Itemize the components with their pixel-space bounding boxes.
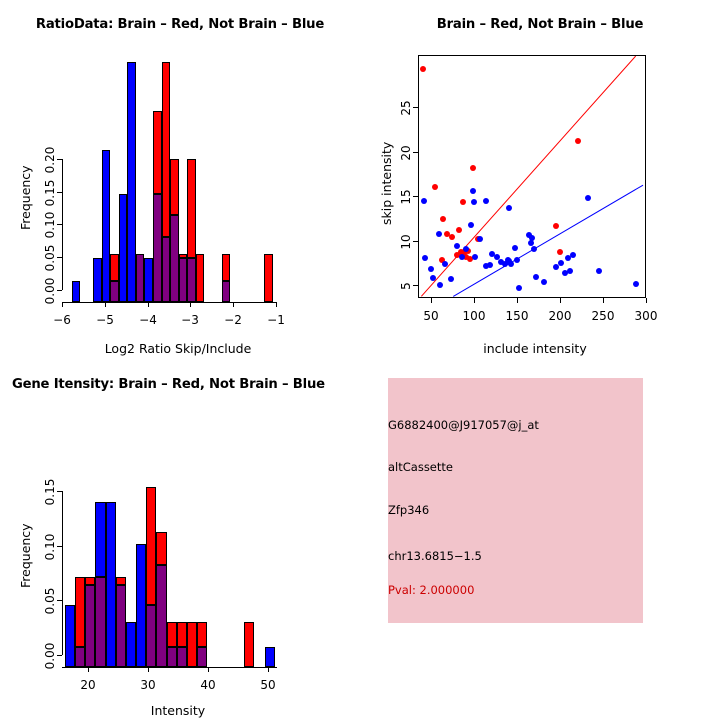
scatter-point — [448, 276, 454, 282]
sc-y-tick-2 — [413, 196, 418, 197]
x-tick-label-1: −5 — [96, 313, 114, 327]
axis-title-y-scatter: skip intensity — [379, 142, 394, 225]
sc-y-label-3: 20 — [399, 133, 413, 173]
axis-title-x-ratio: Log2 Ratio Skip/Include — [105, 341, 252, 356]
histogram-bar — [170, 215, 179, 302]
g-x-tick-2 — [208, 667, 209, 672]
histogram-bar — [116, 585, 126, 667]
histogram-bar — [167, 647, 177, 667]
histogram-bar — [146, 487, 156, 605]
histogram-bar — [197, 647, 207, 667]
scatter-point — [430, 275, 436, 281]
sc-x-tick-4 — [603, 298, 604, 303]
scatter-point — [570, 252, 576, 258]
histogram-bar — [187, 622, 197, 667]
scatter-point — [442, 261, 448, 267]
sc-x-label-2: 150 — [506, 309, 529, 323]
scatter-point — [440, 216, 446, 222]
histogram-bar — [197, 622, 207, 648]
histogram-bar — [144, 258, 153, 302]
histogram-bar — [85, 577, 95, 585]
scatter-point — [533, 274, 539, 280]
scatter-point — [585, 195, 591, 201]
scatter-point — [456, 227, 462, 233]
histogram-bar — [156, 565, 166, 667]
y-tick-0 — [57, 290, 62, 291]
scatter-point — [541, 279, 547, 285]
info-event-type: altCassette — [388, 460, 453, 474]
scatter-point — [436, 231, 442, 237]
scatter-point — [449, 234, 455, 240]
x-tick-1 — [105, 302, 106, 307]
panel-gene-info: G6882400@J917057@j_at altCassette Zfp346… — [360, 360, 720, 720]
histogram-bar — [136, 544, 146, 667]
histogram-bar — [177, 622, 187, 648]
scatter-point — [460, 199, 466, 205]
sc-x-label-4: 250 — [592, 309, 615, 323]
histogram-bar — [85, 585, 95, 667]
sc-y-label-0: 5 — [399, 266, 413, 306]
g-y-label-0: 0.00 — [43, 636, 57, 676]
scatter-point — [472, 254, 478, 260]
scatter-point — [557, 249, 563, 255]
x-tick-5 — [276, 302, 277, 307]
histogram-bar — [196, 254, 205, 302]
x-tick-3 — [190, 302, 191, 307]
histogram-bar — [170, 159, 179, 215]
histogram-bar — [75, 577, 85, 647]
scatter-point — [512, 245, 518, 251]
x-tick-4 — [233, 302, 234, 307]
scatter-point — [596, 268, 602, 274]
histogram-bar — [136, 254, 145, 302]
histogram-bar — [102, 150, 111, 302]
histogram-bar — [126, 622, 136, 667]
histogram-bar — [116, 577, 126, 585]
scatter-point — [575, 138, 581, 144]
sc-x-tick-2 — [517, 298, 518, 303]
info-gene-symbol: Zfp346 — [388, 503, 429, 517]
scatter-point — [420, 66, 426, 72]
scatter-plot-area — [418, 55, 646, 298]
histogram-bar — [179, 258, 188, 302]
histogram-bar — [65, 605, 75, 667]
sc-y-label-1: 10 — [399, 222, 413, 262]
histogram-bar — [187, 258, 196, 302]
histogram-bar — [162, 62, 171, 237]
info-location: chr13.6815−1.5 — [388, 549, 482, 563]
regression-line — [421, 56, 636, 297]
scatter-point — [531, 246, 537, 252]
histogram-bar — [156, 532, 166, 565]
panel-title-ratio: RatioData: Brain – Red, Not Brain – Blue — [0, 17, 360, 32]
histogram-bar — [95, 502, 105, 577]
g-y-label-2: 0.10 — [43, 527, 57, 567]
histogram-bar — [146, 605, 156, 667]
sc-x-tick-1 — [474, 298, 475, 303]
scatter-point — [553, 223, 559, 229]
scatter-point — [470, 165, 476, 171]
g-y-tick-3 — [57, 491, 62, 492]
y-tick-4 — [57, 159, 62, 160]
y-axis-line-gene — [62, 491, 63, 655]
axis-title-y-ratio: Frequency — [18, 165, 33, 230]
scatter-point — [454, 243, 460, 249]
histogram-bar — [244, 622, 254, 667]
scatter-point — [463, 246, 469, 252]
histogram-bar — [264, 254, 273, 302]
g-x-label-3: 50 — [260, 678, 275, 692]
scatter-point — [633, 281, 639, 287]
x-tick-label-2: −4 — [139, 313, 157, 327]
g-x-tick-0 — [88, 667, 89, 672]
x-tick-label-4: −2 — [224, 313, 242, 327]
histogram-bar — [110, 281, 119, 302]
g-x-label-1: 30 — [140, 678, 155, 692]
scatter-point — [459, 254, 465, 260]
scatter-point — [477, 236, 483, 242]
x-axis-line-ratio — [62, 302, 276, 303]
sc-x-label-3: 200 — [549, 309, 572, 323]
scatter-point — [421, 198, 427, 204]
histogram-bar — [265, 647, 275, 667]
scatter-point — [468, 222, 474, 228]
sc-y-label-4: 25 — [399, 88, 413, 128]
panel-title-gene: Gene Itensity: Brain – Red, Not Brain – … — [12, 377, 372, 392]
sc-y-label-2: 15 — [399, 177, 413, 217]
histogram-bar — [167, 622, 177, 648]
y-tick-3 — [57, 192, 62, 193]
axis-title-x-gene: Intensity — [151, 703, 205, 718]
scatter-point — [432, 184, 438, 190]
panel-ratio-histogram: RatioData: Brain – Red, Not Brain – Blue… — [0, 0, 360, 360]
scatter-point — [516, 285, 522, 291]
histogram-bar — [153, 111, 162, 194]
axis-title-y-gene: Frequency — [18, 523, 33, 588]
sc-x-tick-3 — [560, 298, 561, 303]
figure-canvas: RatioData: Brain – Red, Not Brain – Blue… — [0, 0, 720, 720]
x-axis-line-gene — [62, 667, 277, 668]
g-y-label-3: 0.15 — [43, 472, 57, 512]
panel-gene-intensity-histogram: Gene Itensity: Brain – Red, Not Brain – … — [0, 360, 360, 720]
x-tick-0 — [62, 302, 63, 307]
g-y-tick-0 — [57, 655, 62, 656]
x-tick-label-5: −1 — [267, 313, 285, 327]
sc-x-label-5: 300 — [635, 309, 658, 323]
y-tick-1 — [57, 257, 62, 258]
scatter-point — [529, 235, 535, 241]
histogram-bar — [95, 577, 105, 667]
histogram-bar — [93, 258, 102, 302]
info-pval: Pval: 2.000000 — [388, 583, 474, 597]
g-x-label-0: 20 — [80, 678, 95, 692]
g-x-tick-1 — [148, 667, 149, 672]
panel-intensity-scatter: Brain – Red, Not Brain – Blue skip inten… — [360, 0, 720, 360]
scatter-point — [567, 268, 573, 274]
scatter-point — [422, 255, 428, 261]
histogram-bar — [153, 194, 162, 302]
histogram-bar — [127, 62, 136, 302]
scatter-point — [428, 266, 434, 272]
sc-y-tick-4 — [413, 107, 418, 108]
sc-y-tick-1 — [413, 241, 418, 242]
panel-title-scatter: Brain – Red, Not Brain – Blue — [360, 17, 720, 32]
scatter-point — [470, 188, 476, 194]
histogram-bar — [110, 254, 119, 281]
info-probe-id: G6882400@J917057@j_at — [388, 418, 539, 432]
histogram-bar — [72, 281, 81, 302]
scatter-point — [471, 199, 477, 205]
histogram-bar — [222, 281, 231, 302]
histogram-bar — [162, 237, 171, 302]
histogram-bar — [75, 647, 85, 667]
y-tick-2 — [57, 224, 62, 225]
g-y-tick-2 — [57, 546, 62, 547]
histogram-bar — [106, 502, 116, 667]
sc-x-label-1: 100 — [463, 309, 486, 323]
g-y-label-1: 0.05 — [43, 581, 57, 621]
x-tick-2 — [148, 302, 149, 307]
histogram-bar — [222, 254, 231, 281]
scatter-point — [487, 262, 493, 268]
sc-x-label-0: 50 — [423, 309, 438, 323]
histogram-bar — [187, 159, 196, 258]
y-tick-label-4: 0.20 — [43, 140, 57, 180]
scatter-point — [514, 257, 520, 263]
scatter-point — [506, 205, 512, 211]
scatter-point — [437, 282, 443, 288]
g-x-label-2: 40 — [200, 678, 215, 692]
scatter-point — [558, 260, 564, 266]
g-x-tick-3 — [268, 667, 269, 672]
histogram-bar — [177, 647, 187, 667]
scatter-point — [508, 261, 514, 267]
histogram-bar — [119, 194, 128, 302]
x-tick-label-3: −3 — [181, 313, 199, 327]
y-axis-line-ratio — [62, 159, 63, 290]
sc-y-tick-3 — [413, 152, 418, 153]
sc-y-tick-0 — [413, 285, 418, 286]
g-y-tick-1 — [57, 600, 62, 601]
axis-title-x-scatter: include intensity — [483, 341, 586, 356]
sc-x-tick-0 — [431, 298, 432, 303]
sc-x-tick-5 — [646, 298, 647, 303]
x-tick-label-0: −6 — [53, 313, 71, 327]
scatter-point — [483, 198, 489, 204]
